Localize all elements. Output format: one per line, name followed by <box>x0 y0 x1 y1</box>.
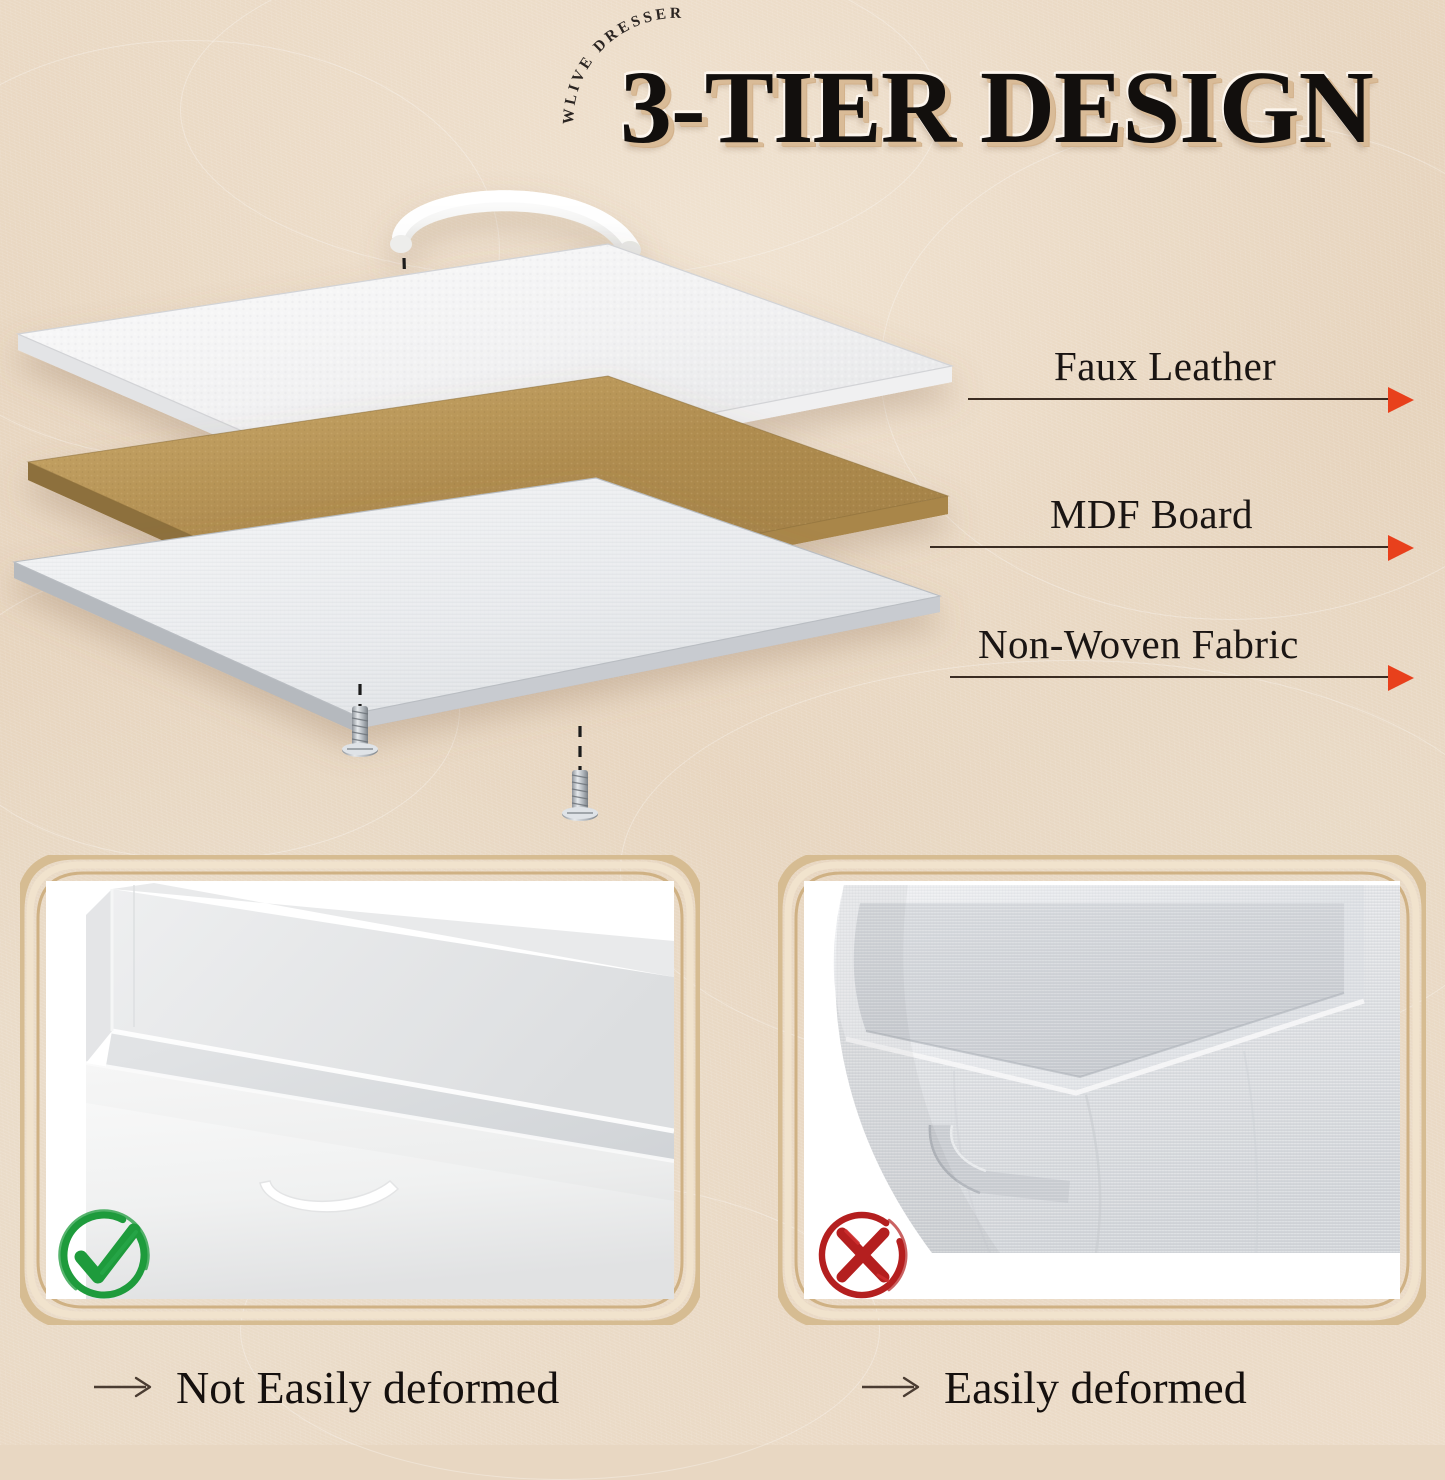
cross-mark-icon <box>808 1201 916 1309</box>
callout-line <box>930 546 1408 548</box>
bad-example-panel <box>778 855 1426 1325</box>
caption-text: Not Easily deformed <box>176 1361 559 1414</box>
bad-example-caption: Easily deformed <box>860 1352 1247 1422</box>
arrow-right-icon <box>860 1372 922 1402</box>
check-mark-icon <box>50 1201 158 1309</box>
callout-label: Faux Leather <box>1054 342 1276 390</box>
arrow-right-icon <box>1388 387 1414 413</box>
arrow-right-icon <box>1388 535 1414 561</box>
arrow-right-icon <box>92 1372 154 1402</box>
good-example-caption: Not Easily deformed <box>92 1352 559 1422</box>
screw-icon-2 <box>562 770 598 821</box>
arrow-right-icon <box>1388 665 1414 691</box>
caption-text: Easily deformed <box>944 1361 1247 1414</box>
exploded-layer-diagram <box>0 150 1000 830</box>
callout-non-woven-fabric: Non-Woven Fabric <box>950 604 1440 700</box>
callout-line <box>950 676 1408 678</box>
callout-line <box>968 398 1406 400</box>
callout-label: MDF Board <box>1050 490 1253 538</box>
callout-label: Non-Woven Fabric <box>978 620 1299 668</box>
callout-mdf-board: MDF Board <box>930 474 1438 570</box>
good-example-panel <box>20 855 700 1325</box>
callout-faux-leather: Faux Leather <box>968 326 1438 422</box>
